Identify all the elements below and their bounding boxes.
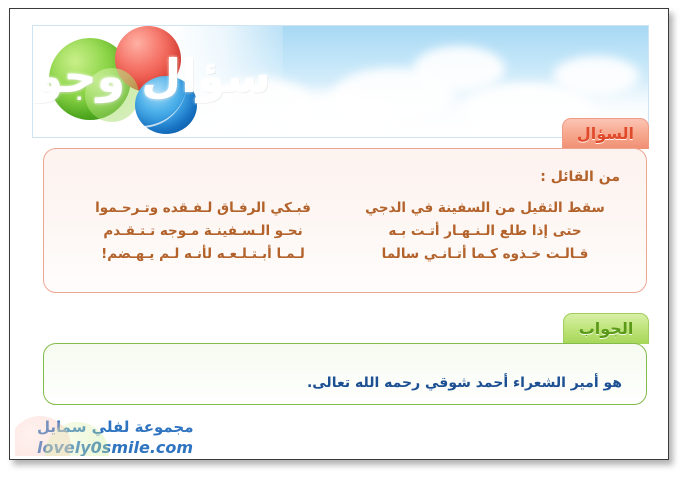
verse-hemistich-second: نحـو الـسـفينـة مـوجه تـتـقـدم [62, 223, 344, 239]
logo-text: سؤال وجواب [41, 32, 271, 120]
tab-answer[interactable]: الجواب [563, 313, 649, 344]
header-banner: سؤال وجواب [32, 25, 649, 138]
question-prompt: من القائل : [540, 169, 620, 185]
inner-frame: سؤال وجواب السؤال من القائل : سقط الثقيل… [15, 14, 665, 456]
answer-box: هو أمير الشعراء أحمد شوقي رحمه الله تعال… [43, 343, 647, 405]
question-box: من القائل : سقط الثقيل من السفينة في الد… [43, 148, 647, 293]
verse-row: حتى إذا طلع الـنـهـار أتـت بـه نحـو الـس… [62, 219, 626, 242]
verse-hemistich-first: سقط الثقيل من السفينة في الدجي [344, 200, 626, 216]
verse-row: سقط الثقيل من السفينة في الدجي فبـكي الر… [62, 196, 626, 219]
poem-verses: سقط الثقيل من السفينة في الدجي فبـكي الر… [62, 196, 626, 265]
verse-hemistich-first: حتى إذا طلع الـنـهـار أتـت بـه [344, 223, 626, 239]
site-logo: سؤال وجواب [41, 25, 271, 136]
verse-hemistich-second: لـمـا أبـتـلـعـه لأنـه لـم يـهـضم! [62, 246, 344, 262]
tab-question[interactable]: السؤال [562, 118, 649, 149]
answer-text: هو أمير الشعراء أحمد شوقي رحمه الله تعال… [307, 375, 622, 391]
verse-hemistich-first: قـالـت خـذوه كـما أتـانـي سالما [344, 246, 626, 262]
page-frame: سؤال وجواب السؤال من القائل : سقط الثقيل… [9, 8, 669, 460]
verse-row: قـالـت خـذوه كـما أتـانـي سالما لـمـا أب… [62, 242, 626, 265]
verse-hemistich-second: فبـكي الرفـاق لـفـقده وتـرحـموا [62, 200, 344, 216]
